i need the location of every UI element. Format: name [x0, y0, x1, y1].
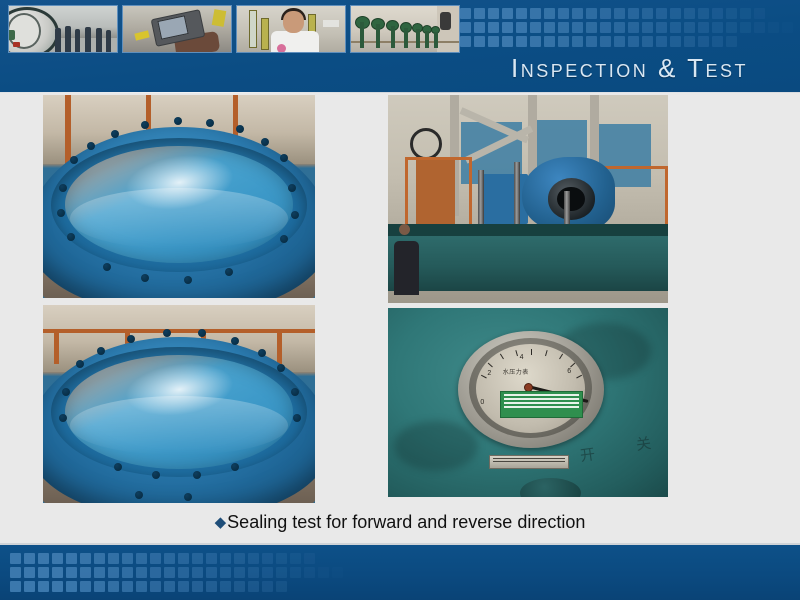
- dot-row: [460, 36, 800, 47]
- dot-cell: [544, 8, 555, 19]
- header-divider: [0, 92, 800, 93]
- dot-cell: [614, 22, 625, 33]
- slide: Inspection & Test: [0, 0, 800, 600]
- footer-dot-pattern: [10, 553, 350, 593]
- dot-cell: [488, 8, 499, 19]
- dot-cell: [164, 581, 175, 592]
- dot-cell: [262, 581, 273, 592]
- dot-row: [460, 22, 800, 33]
- dot-cell: [108, 567, 119, 578]
- dot-cell: [220, 553, 231, 564]
- header-thumbnail-strip: [8, 5, 460, 53]
- dot-cell: [150, 553, 161, 564]
- dot-cell: [94, 553, 105, 564]
- dot-cell: [572, 22, 583, 33]
- thumbnail-image: [237, 6, 345, 52]
- dot-cell: [600, 22, 611, 33]
- photo-hydro-test-rig[interactable]: [388, 95, 668, 303]
- dot-cell: [290, 567, 301, 578]
- dot-row: [10, 553, 350, 564]
- dot-cell: [94, 567, 105, 578]
- dot-cell: [544, 22, 555, 33]
- dot-cell: [290, 553, 301, 564]
- dot-row: [460, 8, 800, 19]
- dot-cell: [206, 581, 217, 592]
- dot-cell: [136, 553, 147, 564]
- gauge-number-0: 0: [480, 399, 484, 406]
- dot-cell: [332, 567, 343, 578]
- dot-cell: [248, 567, 259, 578]
- dot-cell: [502, 36, 513, 47]
- dot-cell: [24, 581, 35, 592]
- dot-cell: [502, 22, 513, 33]
- dot-cell: [276, 581, 287, 592]
- dot-cell: [136, 567, 147, 578]
- dot-cell: [782, 22, 793, 33]
- dot-cell: [642, 22, 653, 33]
- dot-cell: [558, 36, 569, 47]
- dot-cell: [178, 581, 189, 592]
- machine-nameplate: [489, 455, 569, 468]
- dot-cell: [318, 567, 329, 578]
- dot-cell: [234, 581, 245, 592]
- caption-text: Sealing test for forward and reverse dir…: [227, 512, 585, 532]
- dot-cell: [460, 8, 471, 19]
- dot-cell: [488, 22, 499, 33]
- dot-cell: [656, 22, 667, 33]
- dot-cell: [220, 581, 231, 592]
- dot-cell: [516, 22, 527, 33]
- dot-cell: [474, 8, 485, 19]
- dot-cell: [80, 553, 91, 564]
- dot-cell: [248, 553, 259, 564]
- dot-cell: [122, 581, 133, 592]
- dot-cell: [530, 8, 541, 19]
- dot-cell: [460, 36, 471, 47]
- dot-cell: [754, 8, 765, 19]
- dot-cell: [52, 567, 63, 578]
- dot-cell: [670, 22, 681, 33]
- dot-cell: [206, 567, 217, 578]
- dot-cell: [164, 567, 175, 578]
- dot-cell: [304, 553, 315, 564]
- dot-cell: [572, 36, 583, 47]
- dot-cell: [740, 22, 751, 33]
- dot-cell: [572, 8, 583, 19]
- gauge-number-4: 4: [520, 354, 524, 361]
- dot-cell: [192, 567, 203, 578]
- dot-cell: [614, 8, 625, 19]
- dot-cell: [262, 553, 273, 564]
- dot-cell: [10, 581, 21, 592]
- gauge-number-6: 6: [567, 368, 571, 375]
- dot-cell: [150, 581, 161, 592]
- dot-cell: [558, 8, 569, 19]
- dot-cell: [712, 22, 723, 33]
- dot-cell: [726, 8, 737, 19]
- dot-cell: [38, 553, 49, 564]
- slide-caption: ◆Sealing test for forward and reverse di…: [0, 512, 800, 533]
- dot-cell: [628, 36, 639, 47]
- header-dot-pattern: [460, 8, 800, 52]
- dot-cell: [586, 8, 597, 19]
- dot-cell: [178, 567, 189, 578]
- dot-cell: [698, 36, 709, 47]
- dot-cell: [136, 581, 147, 592]
- dot-cell: [304, 567, 315, 578]
- dot-cell: [192, 581, 203, 592]
- dot-cell: [656, 36, 667, 47]
- dot-cell: [768, 22, 779, 33]
- dot-cell: [656, 8, 667, 19]
- dot-cell: [80, 567, 91, 578]
- dot-cell: [220, 567, 231, 578]
- dot-cell: [150, 567, 161, 578]
- thumbnail-lab-technician-testing[interactable]: [236, 5, 346, 53]
- dot-cell: [10, 567, 21, 578]
- dot-cell: [502, 8, 513, 19]
- dot-cell: [122, 553, 133, 564]
- dot-cell: [52, 553, 63, 564]
- dot-cell: [66, 553, 77, 564]
- diamond-bullet-icon: ◆: [215, 514, 227, 531]
- dot-cell: [24, 553, 35, 564]
- thumbnail-image: [9, 6, 117, 52]
- dot-cell: [642, 36, 653, 47]
- dot-cell: [530, 36, 541, 47]
- dot-cell: [670, 36, 681, 47]
- dot-cell: [52, 581, 63, 592]
- dot-cell: [262, 567, 273, 578]
- dot-cell: [712, 36, 723, 47]
- thumbnail-image: [351, 6, 459, 52]
- dot-row: [10, 581, 350, 592]
- dot-cell: [122, 567, 133, 578]
- dot-cell: [558, 22, 569, 33]
- dot-cell: [10, 553, 21, 564]
- dot-cell: [192, 553, 203, 564]
- thumbnail-valve-stem-row[interactable]: [350, 5, 460, 53]
- dot-cell: [586, 36, 597, 47]
- dot-cell: [684, 22, 695, 33]
- dot-cell: [66, 581, 77, 592]
- dot-cell: [164, 553, 175, 564]
- dot-cell: [698, 22, 709, 33]
- dot-row: [10, 567, 350, 578]
- dot-cell: [178, 553, 189, 564]
- dot-cell: [754, 22, 765, 33]
- dot-cell: [474, 36, 485, 47]
- dot-cell: [248, 581, 259, 592]
- dot-cell: [460, 22, 471, 33]
- dot-cell: [38, 581, 49, 592]
- dot-cell: [698, 8, 709, 19]
- dot-cell: [80, 581, 91, 592]
- dot-cell: [600, 36, 611, 47]
- gauge-calibration-sticker: [500, 391, 583, 418]
- thumbnail-image: [123, 6, 231, 52]
- dot-cell: [726, 22, 737, 33]
- photo-valve-seat-reverse[interactable]: [43, 305, 315, 503]
- dot-cell: [614, 36, 625, 47]
- photo-pressure-gauge[interactable]: 0 2 4 6 8 水压力表 关 开: [388, 308, 668, 497]
- dot-cell: [628, 8, 639, 19]
- dot-cell: [488, 36, 499, 47]
- dot-cell: [516, 36, 527, 47]
- dot-cell: [234, 567, 245, 578]
- dot-cell: [600, 8, 611, 19]
- dot-cell: [474, 22, 485, 33]
- dot-cell: [670, 8, 681, 19]
- dot-cell: [66, 567, 77, 578]
- dot-cell: [38, 567, 49, 578]
- dot-cell: [684, 8, 695, 19]
- page-title: Inspection & Test: [511, 53, 748, 84]
- footer-bar: [0, 543, 800, 600]
- thumbnail-handheld-analyzer[interactable]: [122, 5, 232, 53]
- dot-cell: [586, 22, 597, 33]
- dot-cell: [628, 22, 639, 33]
- dot-cell: [24, 567, 35, 578]
- header-bar: Inspection & Test: [0, 0, 800, 93]
- dot-cell: [206, 553, 217, 564]
- dot-cell: [94, 581, 105, 592]
- dot-cell: [726, 36, 737, 47]
- dot-cell: [234, 553, 245, 564]
- footer-divider: [0, 543, 800, 545]
- dot-cell: [684, 36, 695, 47]
- chalk-marking: 开: [579, 443, 597, 466]
- photo-valve-seat-forward[interactable]: [43, 95, 315, 298]
- gauge-number-2: 2: [487, 370, 491, 377]
- dot-cell: [530, 22, 541, 33]
- dot-cell: [276, 567, 287, 578]
- dot-cell: [276, 553, 287, 564]
- chalk-marking: 关: [635, 432, 653, 455]
- thumbnail-factory-hall-valve-inspection[interactable]: [8, 5, 118, 53]
- dot-cell: [108, 581, 119, 592]
- dot-cell: [712, 8, 723, 19]
- dot-cell: [642, 8, 653, 19]
- dot-cell: [516, 8, 527, 19]
- dot-cell: [740, 8, 751, 19]
- dot-cell: [108, 553, 119, 564]
- gauge-dial-label: 水压力表: [503, 367, 529, 376]
- dot-cell: [544, 36, 555, 47]
